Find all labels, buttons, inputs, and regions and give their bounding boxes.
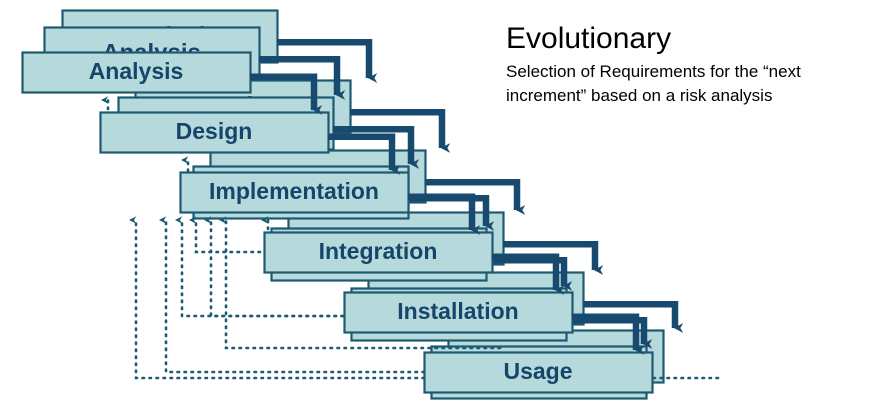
- phase-label-integration: Integration: [319, 238, 438, 264]
- phase-label-installation: Installation: [397, 298, 518, 324]
- page-title: Evolutionary: [506, 22, 671, 56]
- phase-label-analysis: Analysis: [89, 58, 184, 84]
- page-subtitle: Selection of Requirements for the “next …: [506, 60, 876, 108]
- phase-box-implementation-front[interactable]: Implementation: [181, 173, 409, 213]
- phase-box-usage-front[interactable]: Usage: [425, 353, 653, 393]
- waterfall-diagram: AnalysisDesignImplementationIntegrationI…: [0, 0, 881, 407]
- phase-box-design-front[interactable]: Design: [101, 113, 329, 153]
- phase-label-implementation: Implementation: [209, 178, 379, 204]
- phase-box-integration-front[interactable]: Integration: [265, 233, 493, 273]
- phase-label-design: Design: [176, 118, 253, 144]
- phase-box-analysis-front[interactable]: Analysis: [23, 53, 251, 93]
- phase-label-usage: Usage: [503, 358, 572, 384]
- phase-box-installation-front[interactable]: Installation: [345, 293, 573, 333]
